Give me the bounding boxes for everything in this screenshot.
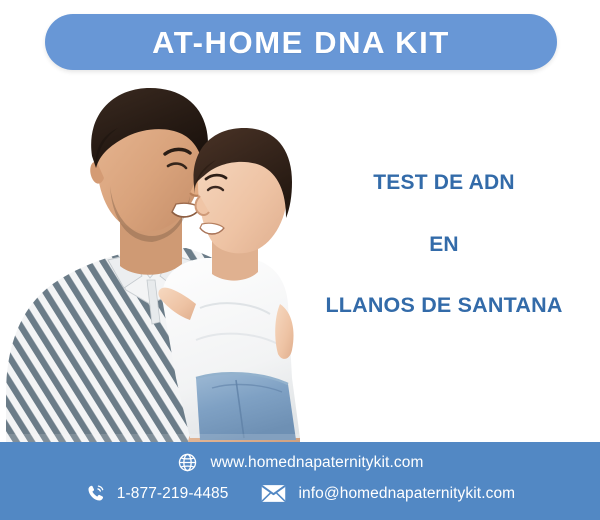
headline-block: TEST DE ADN EN LLANOS DE SANTANA <box>300 150 588 317</box>
website-label: www.homednapaternitykit.com <box>211 454 424 472</box>
phone-contact-item[interactable]: 1-877-219-4485 <box>85 483 229 504</box>
headline-line-2: EN <box>300 234 588 255</box>
family-photo <box>0 78 320 450</box>
contact-footer: www.homednapaternitykit.com 1-877-219-44… <box>0 442 600 520</box>
globe-icon <box>177 452 198 473</box>
page-title: AT-HOME DNA KIT <box>152 27 450 58</box>
phone-icon <box>85 483 106 504</box>
headline-line-1: TEST DE ADN <box>300 172 588 193</box>
family-photo-image <box>0 78 320 450</box>
footer-row-phone-email: 1-877-219-4485 info@homednapaternitykit.… <box>0 483 600 504</box>
email-contact-item[interactable]: info@homednapaternitykit.com <box>261 484 516 503</box>
header-band: AT-HOME DNA KIT <box>0 0 600 86</box>
title-pill: AT-HOME DNA KIT <box>45 14 557 70</box>
headline-line-3: LLANOS DE SANTANA <box>300 295 588 317</box>
website-contact-item[interactable]: www.homednapaternitykit.com <box>177 452 424 473</box>
envelope-icon <box>261 484 286 503</box>
footer-row-website: www.homednapaternitykit.com <box>0 452 600 473</box>
phone-label: 1-877-219-4485 <box>117 485 229 503</box>
email-label: info@homednapaternitykit.com <box>299 485 516 503</box>
poster-root: AT-HOME DNA KIT <box>0 0 600 520</box>
